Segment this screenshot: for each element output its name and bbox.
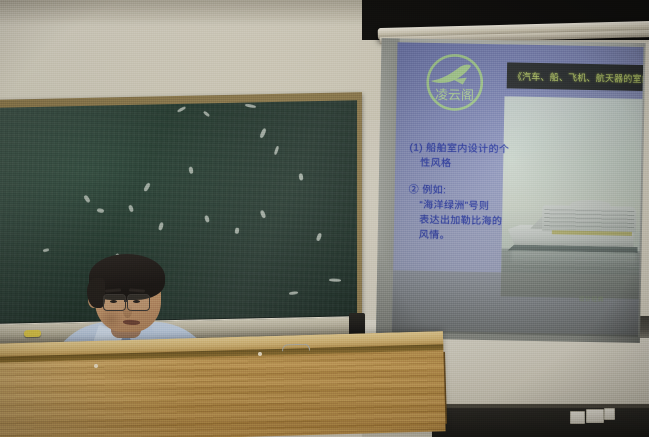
- podium-drawer-handle[interactable]: [282, 344, 310, 352]
- cheek-shadow: [99, 308, 123, 330]
- ship-funnel: [570, 200, 610, 210]
- podium-desk: [0, 331, 446, 437]
- power-outlet: [604, 408, 615, 420]
- slide-title-bar: 《汽车、船、飞机、航天器的室内设计》: [507, 62, 643, 91]
- baseboard: [432, 408, 649, 437]
- chalk-piece: [24, 330, 41, 337]
- slide-body-text: (1) 船舶室内设计的个 性风格 ② 例如: “海洋绿洲”号则 表达出加勒比海的…: [408, 141, 510, 245]
- eyeglasses-bridge: [124, 300, 128, 302]
- screen-lower-blank: [392, 270, 639, 337]
- chalk-mark: [329, 278, 341, 282]
- ceiling-shadow: [0, 0, 400, 26]
- podium-sheen: [0, 350, 446, 437]
- cruise-ship: [507, 192, 643, 257]
- lingyunge-airplane-logo: 凌云阁: [422, 51, 487, 116]
- eye-left: [110, 300, 117, 303]
- podium-screw: [94, 364, 98, 368]
- cruise-ship-photo: [501, 96, 644, 299]
- power-outlet: [570, 411, 585, 424]
- classroom-photo: 凌云阁 《汽车、船、飞机、航天器的室内设计》: [0, 0, 649, 437]
- power-outlet: [586, 409, 604, 423]
- logo-text: 凌云阁: [435, 87, 474, 103]
- ship-deck-lines: [544, 209, 634, 231]
- slide-line: 风情。: [408, 228, 508, 245]
- podium-screw: [258, 352, 262, 356]
- projection-screen: 凌云阁 《汽车、船、飞机、航天器的室内设计》: [376, 18, 649, 343]
- chalk-mark: [299, 173, 304, 181]
- ship-reflection: [511, 251, 635, 267]
- slide-title: 《汽车、船、飞机、航天器的室内设计》: [513, 69, 644, 86]
- slide-line: 性风格: [409, 156, 509, 173]
- nose: [123, 304, 132, 318]
- eye-right: [133, 300, 140, 303]
